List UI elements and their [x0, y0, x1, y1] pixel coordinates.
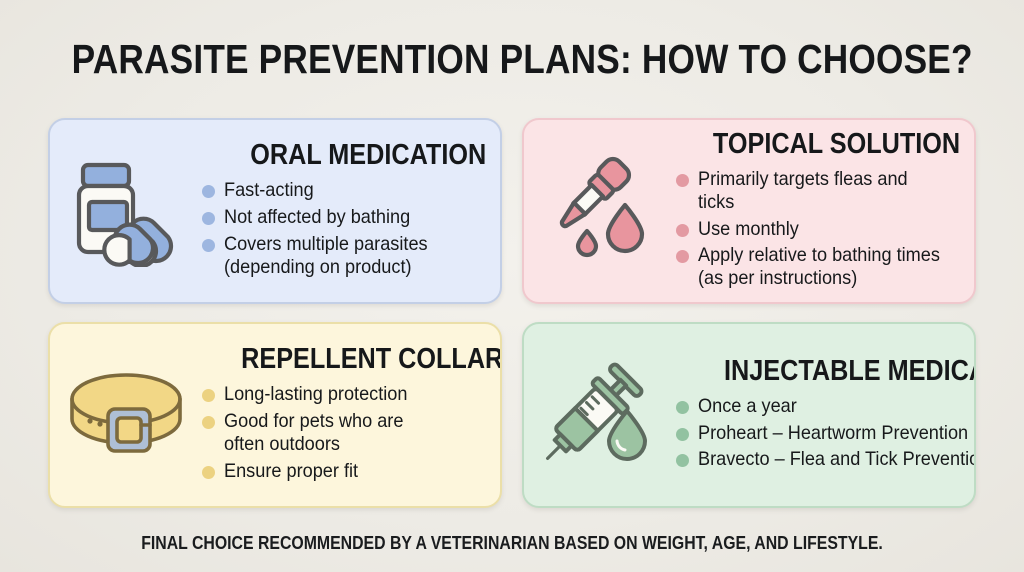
list-item: Covers multiple parasites(depending on p… — [202, 233, 486, 279]
card-oral-medication[interactable]: ORAL MEDICATION Fast-acting Not affected… — [48, 118, 502, 304]
pill-bottle-icon — [50, 120, 202, 302]
bullet-list-injectable-medication: Once a year Proheart – Heartworm Prevent… — [676, 395, 976, 475]
bullet-dot-icon — [202, 212, 215, 225]
page-title: PARASITE PREVENTION PLANS: HOW TO CHOOSE… — [72, 36, 953, 83]
bullet-text: Good for pets who areoften outdoors — [224, 410, 403, 456]
card-repellent-collar[interactable]: REPELLENT COLLAR Long-lasting protection… — [48, 322, 502, 508]
card-topical-solution[interactable]: TOPICAL SOLUTION Primarily targets fleas… — [522, 118, 976, 304]
list-item: Primarily targets fleas and ticks — [676, 168, 960, 214]
cards-grid: ORAL MEDICATION Fast-acting Not affected… — [48, 118, 976, 508]
card-body-oral-medication: ORAL MEDICATION Fast-acting Not affected… — [202, 120, 500, 302]
bullet-dot-icon — [202, 389, 215, 402]
list-item: Bravecto – Flea and Tick Prevention — [676, 448, 976, 471]
list-item: Use monthly — [676, 218, 960, 241]
list-item: Ensure proper fit — [202, 460, 502, 483]
card-heading-topical-solution: TOPICAL SOLUTION — [713, 128, 960, 161]
bullet-dot-icon — [676, 401, 689, 414]
bullet-dot-icon — [676, 224, 689, 237]
bullet-list-repellent-collar: Long-lasting protection Good for pets wh… — [202, 383, 502, 486]
bullet-text: Once a year — [698, 395, 797, 418]
footer-note: FINAL CHOICE RECOMMENDED BY A VETERINARI… — [61, 533, 962, 554]
list-item: Fast-acting — [202, 179, 486, 202]
bullet-text: Long-lasting protection — [224, 383, 407, 406]
bullet-dot-icon — [676, 250, 689, 263]
bullet-list-oral-medication: Fast-acting Not affected by bathing Cove… — [202, 179, 486, 282]
infographic-poster: PARASITE PREVENTION PLANS: HOW TO CHOOSE… — [0, 0, 1024, 572]
card-body-topical-solution: TOPICAL SOLUTION Primarily targets fleas… — [676, 120, 974, 302]
bullet-dot-icon — [202, 466, 215, 479]
card-heading-oral-medication: ORAL MEDICATION — [250, 139, 486, 172]
list-item: Good for pets who areoften outdoors — [202, 410, 502, 456]
bullet-text: Primarily targets fleas and ticks — [698, 168, 942, 214]
bullet-list-topical-solution: Primarily targets fleas and ticks Use mo… — [676, 168, 960, 294]
list-item: Proheart – Heartworm Prevention — [676, 422, 976, 445]
card-body-injectable-medication: INJECTABLE MEDICATION Once a year Prohea… — [676, 324, 976, 506]
bullet-text: Use monthly — [698, 218, 799, 241]
bullet-text: Bravecto – Flea and Tick Prevention — [698, 448, 976, 471]
bullet-dot-icon — [202, 185, 215, 198]
list-item: Once a year — [676, 395, 976, 418]
bullet-text: Proheart – Heartworm Prevention — [698, 422, 968, 445]
list-item: Long-lasting protection — [202, 383, 502, 406]
bullet-text: Fast-acting — [224, 179, 314, 202]
card-heading-injectable-medication: INJECTABLE MEDICATION — [724, 355, 976, 388]
bullet-dot-icon — [676, 454, 689, 467]
bullet-dot-icon — [202, 239, 215, 252]
syringe-icon — [524, 324, 676, 506]
dropper-icon — [524, 120, 676, 302]
bullet-text: Ensure proper fit — [224, 460, 358, 483]
card-body-repellent-collar: REPELLENT COLLAR Long-lasting protection… — [202, 324, 502, 506]
card-injectable-medication[interactable]: INJECTABLE MEDICATION Once a year Prohea… — [522, 322, 976, 508]
list-item: Not affected by bathing — [202, 206, 486, 229]
bullet-dot-icon — [676, 174, 689, 187]
bullet-text: Apply relative to bathing times(as per i… — [698, 244, 940, 290]
bullet-dot-icon — [202, 416, 215, 429]
bullet-text: Covers multiple parasites(depending on p… — [224, 233, 428, 279]
card-heading-repellent-collar: REPELLENT COLLAR — [241, 343, 502, 376]
collar-icon — [50, 324, 202, 506]
bullet-text: Not affected by bathing — [224, 206, 410, 229]
bullet-dot-icon — [676, 428, 689, 441]
list-item: Apply relative to bathing times(as per i… — [676, 244, 960, 290]
